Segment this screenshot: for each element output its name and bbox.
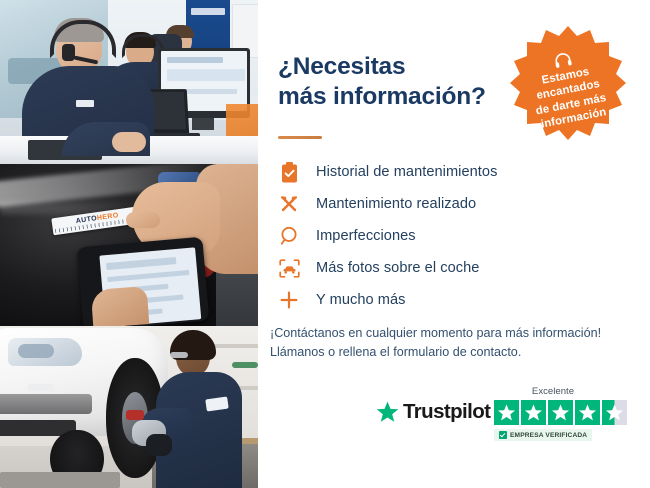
front-agent-hand <box>112 132 146 152</box>
page-title-line-1: ¿Necesitas <box>278 52 528 82</box>
vehicle-inspection-photo: AUTOHERO <box>0 164 258 326</box>
feature-label: Más fotos sobre el coche <box>316 260 479 276</box>
feature-label: Imperfecciones <box>316 228 416 244</box>
car-headlight <box>8 338 82 366</box>
plus-icon <box>274 288 304 312</box>
rating-star-3 <box>548 400 573 425</box>
trustpilot-rating: Excelente EMPRESA VERIFICADA <box>494 386 650 444</box>
contact-paragraph: ¡Contáctanos en cualquier momento para m… <box>270 324 638 362</box>
magnifier-icon <box>274 224 304 248</box>
mechanic-wheel-photo <box>0 326 258 488</box>
tablet-row-2 <box>107 270 189 282</box>
verified-check-icon <box>499 431 507 439</box>
monitor-content-row <box>167 69 245 81</box>
inspector-fingers <box>126 212 160 228</box>
feature-label: Mantenimiento realizado <box>316 196 476 212</box>
headset-icon <box>552 51 574 69</box>
feature-label: Historial de mantenimientos <box>316 164 497 180</box>
front-agent-name-tag <box>76 100 94 107</box>
mechanic-glove-second <box>146 434 172 456</box>
rating-star-2 <box>521 400 546 425</box>
monitor-toolbar <box>167 57 223 63</box>
rating-stars <box>494 400 650 425</box>
car-grille <box>0 394 92 414</box>
clipboard-check-icon <box>274 160 304 184</box>
headlight-inner <box>18 344 54 358</box>
info-promo-card: AUTOHERO <box>0 0 650 488</box>
rating-star-4 <box>575 400 600 425</box>
feature-label: Y mucho más <box>316 292 406 308</box>
verified-company-badge: EMPRESA VERIFICADA <box>494 429 592 441</box>
shelf-item-green <box>232 362 258 368</box>
inspector-second-hand <box>91 286 150 326</box>
trustpilot-wordmark: Trustpilot <box>403 400 490 424</box>
page-title: ¿Necesitas más información? <box>278 52 528 112</box>
feature-item-more-photos[interactable]: Más fotos sobre el coche <box>274 252 634 284</box>
feature-item-imperfections[interactable]: Imperfecciones <box>274 220 634 252</box>
contact-line-2: Llámanos o rellena el formulario de cont… <box>270 343 638 362</box>
trustpilot-logo[interactable]: Trustpilot <box>376 400 490 424</box>
info-panel: ¿Necesitas más información? Estamos enca… <box>258 0 650 488</box>
contact-line-1: ¡Contáctanos en cualquier momento para m… <box>270 324 638 343</box>
page-title-line-2: más información? <box>278 82 528 112</box>
rating-star-5-half <box>602 400 627 425</box>
feature-item-maintenance-done[interactable]: Mantenimiento realizado <box>274 188 634 220</box>
feature-list: Historial de mantenimientos Mantenimient… <box>274 156 634 316</box>
support-badge: Estamos encantados de darte más informac… <box>501 22 635 156</box>
call-center-agents-photo <box>0 0 258 164</box>
car-photo-frame-icon <box>274 256 304 280</box>
tablet-row-1 <box>106 257 176 270</box>
car-lift-ramp <box>0 472 120 488</box>
car-emblem <box>28 384 54 391</box>
photo-collage: AUTOHERO <box>0 0 258 488</box>
trustpilot-star-icon <box>376 401 399 423</box>
monitor-stand <box>192 118 214 130</box>
mechanic-tool <box>126 410 144 420</box>
badge-text-block: Estamos encantados de darte más informac… <box>489 10 646 167</box>
mechanic-safety-glasses <box>170 352 188 358</box>
verified-company-label: EMPRESA VERIFICADA <box>510 432 587 439</box>
trustpilot-block: Trustpilot Excelente EMPRESA VERIFICADA <box>376 386 650 448</box>
title-divider <box>278 136 322 139</box>
tools-cross-icon <box>274 192 304 216</box>
rating-star-1 <box>494 400 519 425</box>
front-agent-earpiece <box>62 44 75 61</box>
feature-item-much-more[interactable]: Y mucho más <box>274 284 634 316</box>
feature-item-maintenance-history[interactable]: Historial de mantenimientos <box>274 156 634 188</box>
rating-label: Excelente <box>494 386 612 397</box>
